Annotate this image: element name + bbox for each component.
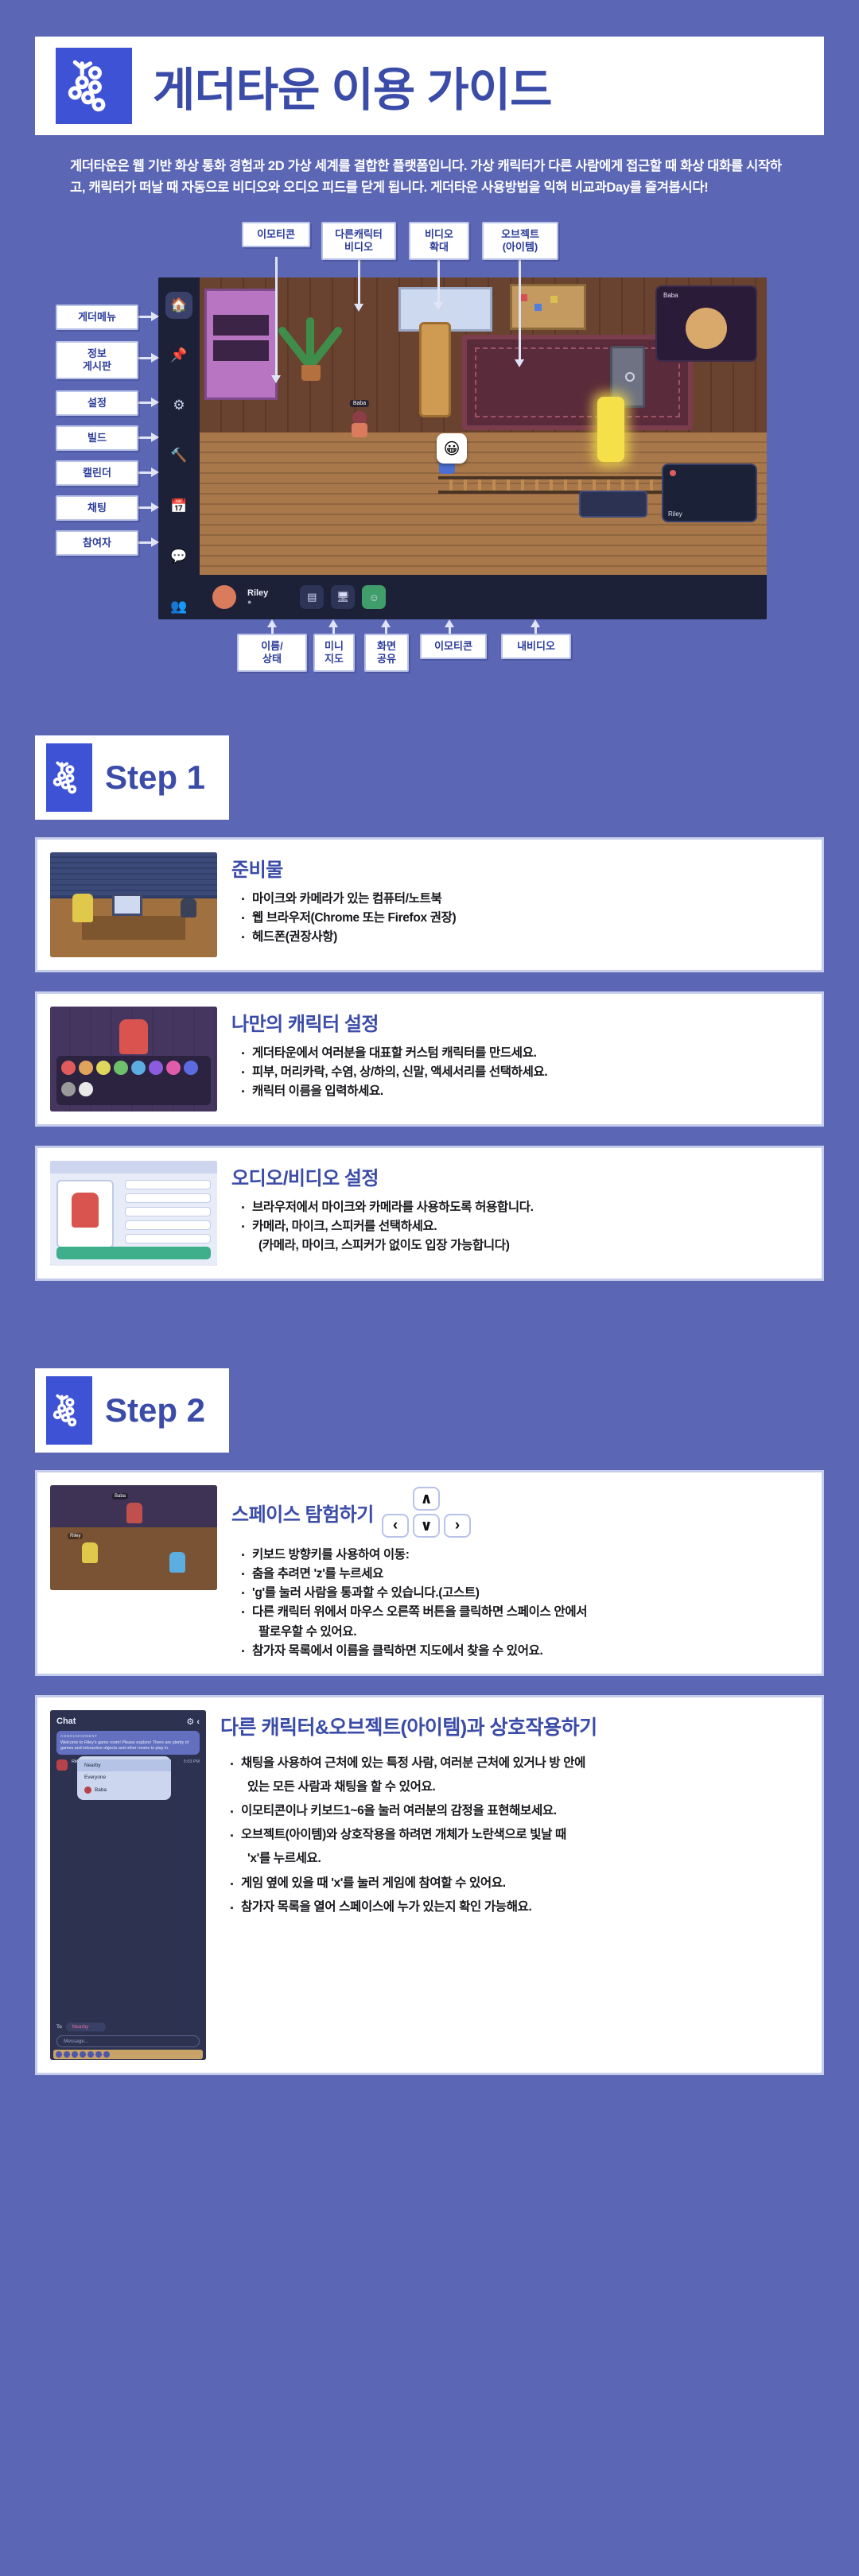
calendar-icon[interactable]: 📅	[165, 493, 192, 519]
list-item: 키보드 방향키를 사용하여 이동:	[252, 1546, 809, 1565]
callout-settings: 설정	[56, 390, 138, 416]
list-item: 피부, 머리카락, 수염, 상/하의, 신말, 액세서리를 선택하세요.	[252, 1063, 809, 1082]
announcement-text: Welcome to Riley's game room! Please exp…	[60, 1740, 196, 1752]
callout-info-board: 정보 게시판	[56, 341, 138, 378]
card-title: 준비물	[231, 854, 809, 882]
callout-name-status: 이름/ 상태	[237, 634, 307, 671]
game-room: Baba 😀 Baba Riley	[200, 277, 767, 575]
chat-recipient-dropdown[interactable]: Nearby Everyone Baba	[77, 1756, 171, 1800]
avatar	[56, 1759, 68, 1771]
callout-build: 빌드	[56, 425, 138, 451]
arrow-keys-graphic: ∧ ‹ ∨ ›	[382, 1487, 471, 1538]
list-item: 춤을 추려면 'z'를 누르세요	[252, 1565, 809, 1584]
card-title-text: 스페이스 탐험하기	[231, 1499, 374, 1527]
status-availability: ●	[247, 598, 268, 606]
my-video-label: Riley	[668, 510, 682, 518]
announcement-bubble: ANNOUNCEMENT Welcome to Riley's game roo…	[56, 1731, 200, 1755]
leader-arrow	[151, 353, 159, 363]
list-item: 이모티콘이나 키보드1~6을 눌러 여러분의 감정을 표현해보세요.	[241, 1799, 809, 1823]
step-2-label: Step 2	[105, 1391, 205, 1430]
page-title: 게더타운 이용 가이드	[153, 52, 551, 119]
card-bullet-list: 키보드 방향키를 사용하여 이동: 춤을 추려면 'z'를 누르세요 'g'를 …	[231, 1546, 809, 1660]
list-item: 있는 모든 사람과 채팅을 할 수 있어요.	[241, 1775, 809, 1799]
pin-icon[interactable]: 📌	[165, 343, 192, 369]
avatar	[84, 1787, 91, 1794]
my-video-tile[interactable]: Riley	[662, 464, 757, 522]
annotated-screenshot: 이모티콘 다른캐릭터 비디오 비디오 확대 오브젝트 (아이템) 게더메뉴 정보…	[35, 222, 824, 667]
leader-arrow	[151, 398, 159, 407]
minimap-widget[interactable]	[579, 491, 647, 518]
list-item: 오브젝트(아이템)와 상호작용을 하려면 개체가 노란색으로 빛날 때	[241, 1823, 809, 1847]
status-bar-tools[interactable]: ▤ 🖥 ☺	[300, 585, 386, 609]
dropdown-option-user: Baba	[77, 1783, 171, 1797]
step-2-badge: Step 2	[35, 1368, 229, 1453]
callout-emoticon-bottom: 이모티콘	[420, 634, 487, 659]
character-editor-thumb	[50, 1007, 217, 1111]
av-setup-thumb	[50, 1161, 217, 1266]
leader-line	[437, 257, 440, 303]
list-item: 브라우저에서 마이크와 카메라를 사용하도록 허용합니다.	[252, 1198, 809, 1217]
leader-line	[275, 257, 278, 376]
card-bullet-list: 게더타운에서 여러분을 대표할 커스텀 캐릭터를 만드세요. 피부, 머리카락,…	[231, 1044, 809, 1101]
list-item: 헤드폰(권장사항)	[252, 928, 809, 947]
map-explore-thumb: Baba Riley	[50, 1485, 217, 1590]
callout-my-video: 내비디오	[501, 634, 571, 659]
leader-arrow	[433, 302, 443, 310]
poster-object	[510, 284, 586, 330]
couch-object	[419, 322, 451, 417]
leader-arrow	[151, 502, 159, 512]
list-item: 'x'를 누르세요.	[241, 1847, 809, 1871]
leader-line	[519, 257, 521, 360]
people-icon[interactable]: 👥	[165, 593, 192, 619]
step-1-badge: Step 1	[35, 735, 229, 820]
card-preparation: 준비물 마이크와 카메라가 있는 컴퓨터/노트북 웹 브라우저(Chrome 또…	[35, 837, 824, 972]
gear-icon[interactable]: ⚙	[165, 393, 192, 419]
leader-arrow	[151, 433, 159, 442]
gather-dots-logo-icon	[56, 48, 132, 124]
chat-panel-thumb: Chat ⚙ ‹ ANNOUNCEMENT Welcome to Riley's…	[50, 1710, 206, 2060]
room-desk-thumb	[50, 852, 217, 957]
card-av-setup: 오디오/비디오 설정 브라우저에서 마이크와 카메라를 사용하도록 허용합니다.…	[35, 1146, 824, 1281]
chat-panel-title: Chat	[56, 1717, 76, 1726]
cabinet-object	[204, 289, 278, 400]
gather-dots-logo-icon	[46, 743, 92, 812]
card-interactions: Chat ⚙ ‹ ANNOUNCEMENT Welcome to Riley's…	[35, 1695, 824, 2075]
callout-gather-menu: 게더메뉴	[56, 305, 138, 330]
leader-arrow	[151, 312, 159, 321]
callout-screen-share: 화면 공유	[364, 634, 409, 671]
list-item: 웹 브라우저(Chrome 또는 Firefox 권장)	[252, 909, 809, 928]
chat-message-input[interactable]: Message...	[56, 2035, 200, 2047]
emoticon-icon[interactable]: ☺	[362, 585, 386, 609]
list-item: (카메라, 마이크, 스피커가 없이도 입장 가능합니다)	[252, 1236, 809, 1255]
card-character-setup: 나만의 캐릭터 설정 게더타운에서 여러분을 대표할 커스텀 캐릭터를 만드세요…	[35, 991, 824, 1127]
map-name-tag: Riley	[68, 1533, 83, 1539]
gather-game-canvas[interactable]: 🏠 📌 ⚙ 🔨 📅 💬 👥 Baba	[158, 277, 767, 619]
chat-to-row[interactable]: To Nearby	[56, 2023, 106, 2031]
arrow-right-key-icon[interactable]: ›	[444, 1514, 471, 1538]
gather-status-bar[interactable]: Riley ● ▤ 🖥 ☺	[200, 575, 767, 619]
hero-section: 게더타운 이용 가이드 게더타운은 웹 기반 화상 통화 경험과 2D 가상 세…	[0, 0, 859, 198]
hammer-icon[interactable]: 🔨	[165, 443, 192, 469]
step-1-label: Step 1	[105, 758, 205, 797]
name-status-label: Riley ●	[247, 588, 268, 606]
collapse-chevron-icon[interactable]: ‹	[196, 1717, 200, 1727]
card-title: 나만의 캐릭터 설정	[231, 1008, 809, 1036]
card-title: 다른 캐릭터&오브젝트(아이템)과 상호작용하기	[220, 1712, 809, 1740]
callout-minimap: 미니 지도	[313, 634, 355, 671]
list-item: 게더타운에서 여러분을 대표할 커스텀 캐릭터를 만드세요.	[252, 1044, 809, 1063]
leader-arrow	[271, 375, 281, 383]
arrow-left-key-icon[interactable]: ‹	[382, 1514, 409, 1538]
dropdown-option-user-label[interactable]: Baba	[95, 1787, 107, 1793]
recording-dot-icon	[670, 470, 676, 476]
interactable-object-highlight[interactable]	[597, 397, 624, 462]
card-bullet-list: 마이크와 카메라가 있는 컴퓨터/노트북 웹 브라우저(Chrome 또는 Fi…	[231, 890, 809, 947]
card-title: 오디오/비디오 설정	[231, 1162, 809, 1190]
callout-other-character-video: 다른캐릭터 비디오	[321, 222, 396, 259]
leader-arrow	[151, 467, 159, 477]
plant-object	[293, 305, 328, 381]
list-item: 마이크와 카메라가 있는 컴퓨터/노트북	[252, 890, 809, 909]
status-user-name: Riley	[247, 588, 268, 598]
minimap-icon[interactable]: ▤	[300, 585, 324, 609]
video-tile-name: Baba	[663, 292, 678, 299]
intro-paragraph: 게더타운은 웹 기반 화상 통화 경험과 2D 가상 세계를 결합한 플랫폼입니…	[35, 135, 824, 198]
leader-line	[358, 257, 360, 305]
list-item: 카메라, 마이크, 스피커를 선택하세요.	[252, 1217, 809, 1236]
gear-icon[interactable]: ⚙	[186, 1717, 194, 1727]
callout-participants: 참여자	[56, 530, 138, 556]
list-item: 'g'를 눌러 사람을 통과할 수 있습니다.(고스트)	[252, 1584, 809, 1603]
list-item: 참가자 목록을 열어 스페이스에 누가 있는지 확인 가능해요.	[241, 1895, 809, 1919]
emoticon-bar[interactable]	[53, 2050, 203, 2059]
card-explore-space: Baba Riley 스페이스 탐험하기 ∧ ‹ ∨ › 키보드 방향키를 사용…	[35, 1470, 824, 1675]
avatar[interactable]	[212, 585, 236, 609]
screen-share-icon[interactable]: 🖥	[331, 585, 355, 609]
list-item: 다른 캐릭터 위에서 마우스 오른쪽 버튼을 클릭하면 스페이스 안에서	[252, 1603, 809, 1622]
other-character-video-tile[interactable]: Baba	[655, 285, 757, 362]
card-title: 스페이스 탐험하기 ∧ ‹ ∨ ›	[231, 1487, 809, 1538]
title-bar: 게더타운 이용 가이드	[35, 37, 824, 135]
arrow-down-key-icon[interactable]: ∨	[413, 1514, 440, 1538]
chat-header-actions[interactable]: ⚙ ‹	[186, 1717, 200, 1727]
list-item: 캐릭터 이름을 입력하세요.	[252, 1082, 809, 1101]
callout-video-enlarge: 비디오 확대	[409, 222, 469, 259]
callout-emoticon: 이모티콘	[242, 222, 310, 247]
dropdown-option-everyone[interactable]: Everyone	[77, 1771, 171, 1783]
home-icon[interactable]: 🏠	[165, 292, 192, 318]
dropdown-option-nearby[interactable]: Nearby	[77, 1759, 171, 1771]
announcement-label: ANNOUNCEMENT	[60, 1734, 196, 1739]
arrow-up-key-icon[interactable]: ∧	[413, 1487, 440, 1511]
other-character[interactable]: Baba	[349, 411, 370, 438]
chat-to-value[interactable]: Nearby	[66, 2023, 107, 2031]
list-item: 참가자 목록에서 이름을 클릭하면 지도에서 찾을 수 있어요.	[252, 1642, 809, 1661]
callout-chat: 채팅	[56, 495, 138, 521]
callout-object-item: 오브젝트 (아이템)	[482, 222, 558, 259]
card-bullet-list: 채팅을 사용하여 근처에 있는 특정 사람, 여러분 근처에 있거나 방 안에 …	[220, 1752, 809, 1920]
chat-icon[interactable]: 💬	[165, 543, 192, 569]
chat-to-label: To	[56, 2024, 62, 2030]
list-item: 팔로우할 수 있어요.	[252, 1623, 809, 1642]
list-item: 게임 옆에 있을 때 'x'를 눌러 게임에 참여할 수 있어요.	[241, 1872, 809, 1895]
leader-arrow	[515, 359, 524, 367]
card-bullet-list: 브라우저에서 마이크와 카메라를 사용하도록 허용합니다. 카메라, 마이크, …	[231, 1198, 809, 1255]
chat-message-time: 5:03 PM	[184, 1759, 200, 1771]
character-name-tag: Baba	[350, 400, 369, 407]
callout-calendar: 캘린더	[56, 460, 138, 486]
gather-left-rail[interactable]: 🏠 📌 ⚙ 🔨 📅 💬 👥	[158, 277, 200, 619]
list-item: 채팅을 사용하여 근처에 있는 특정 사람, 여러분 근처에 있거나 방 안에	[241, 1752, 809, 1775]
leader-arrow	[354, 304, 363, 312]
leader-arrow	[151, 537, 159, 547]
gather-dots-logo-icon	[46, 1376, 92, 1445]
map-name-tag: Baba	[112, 1493, 128, 1499]
emoticon-bubble-icon: 😀	[437, 433, 467, 464]
